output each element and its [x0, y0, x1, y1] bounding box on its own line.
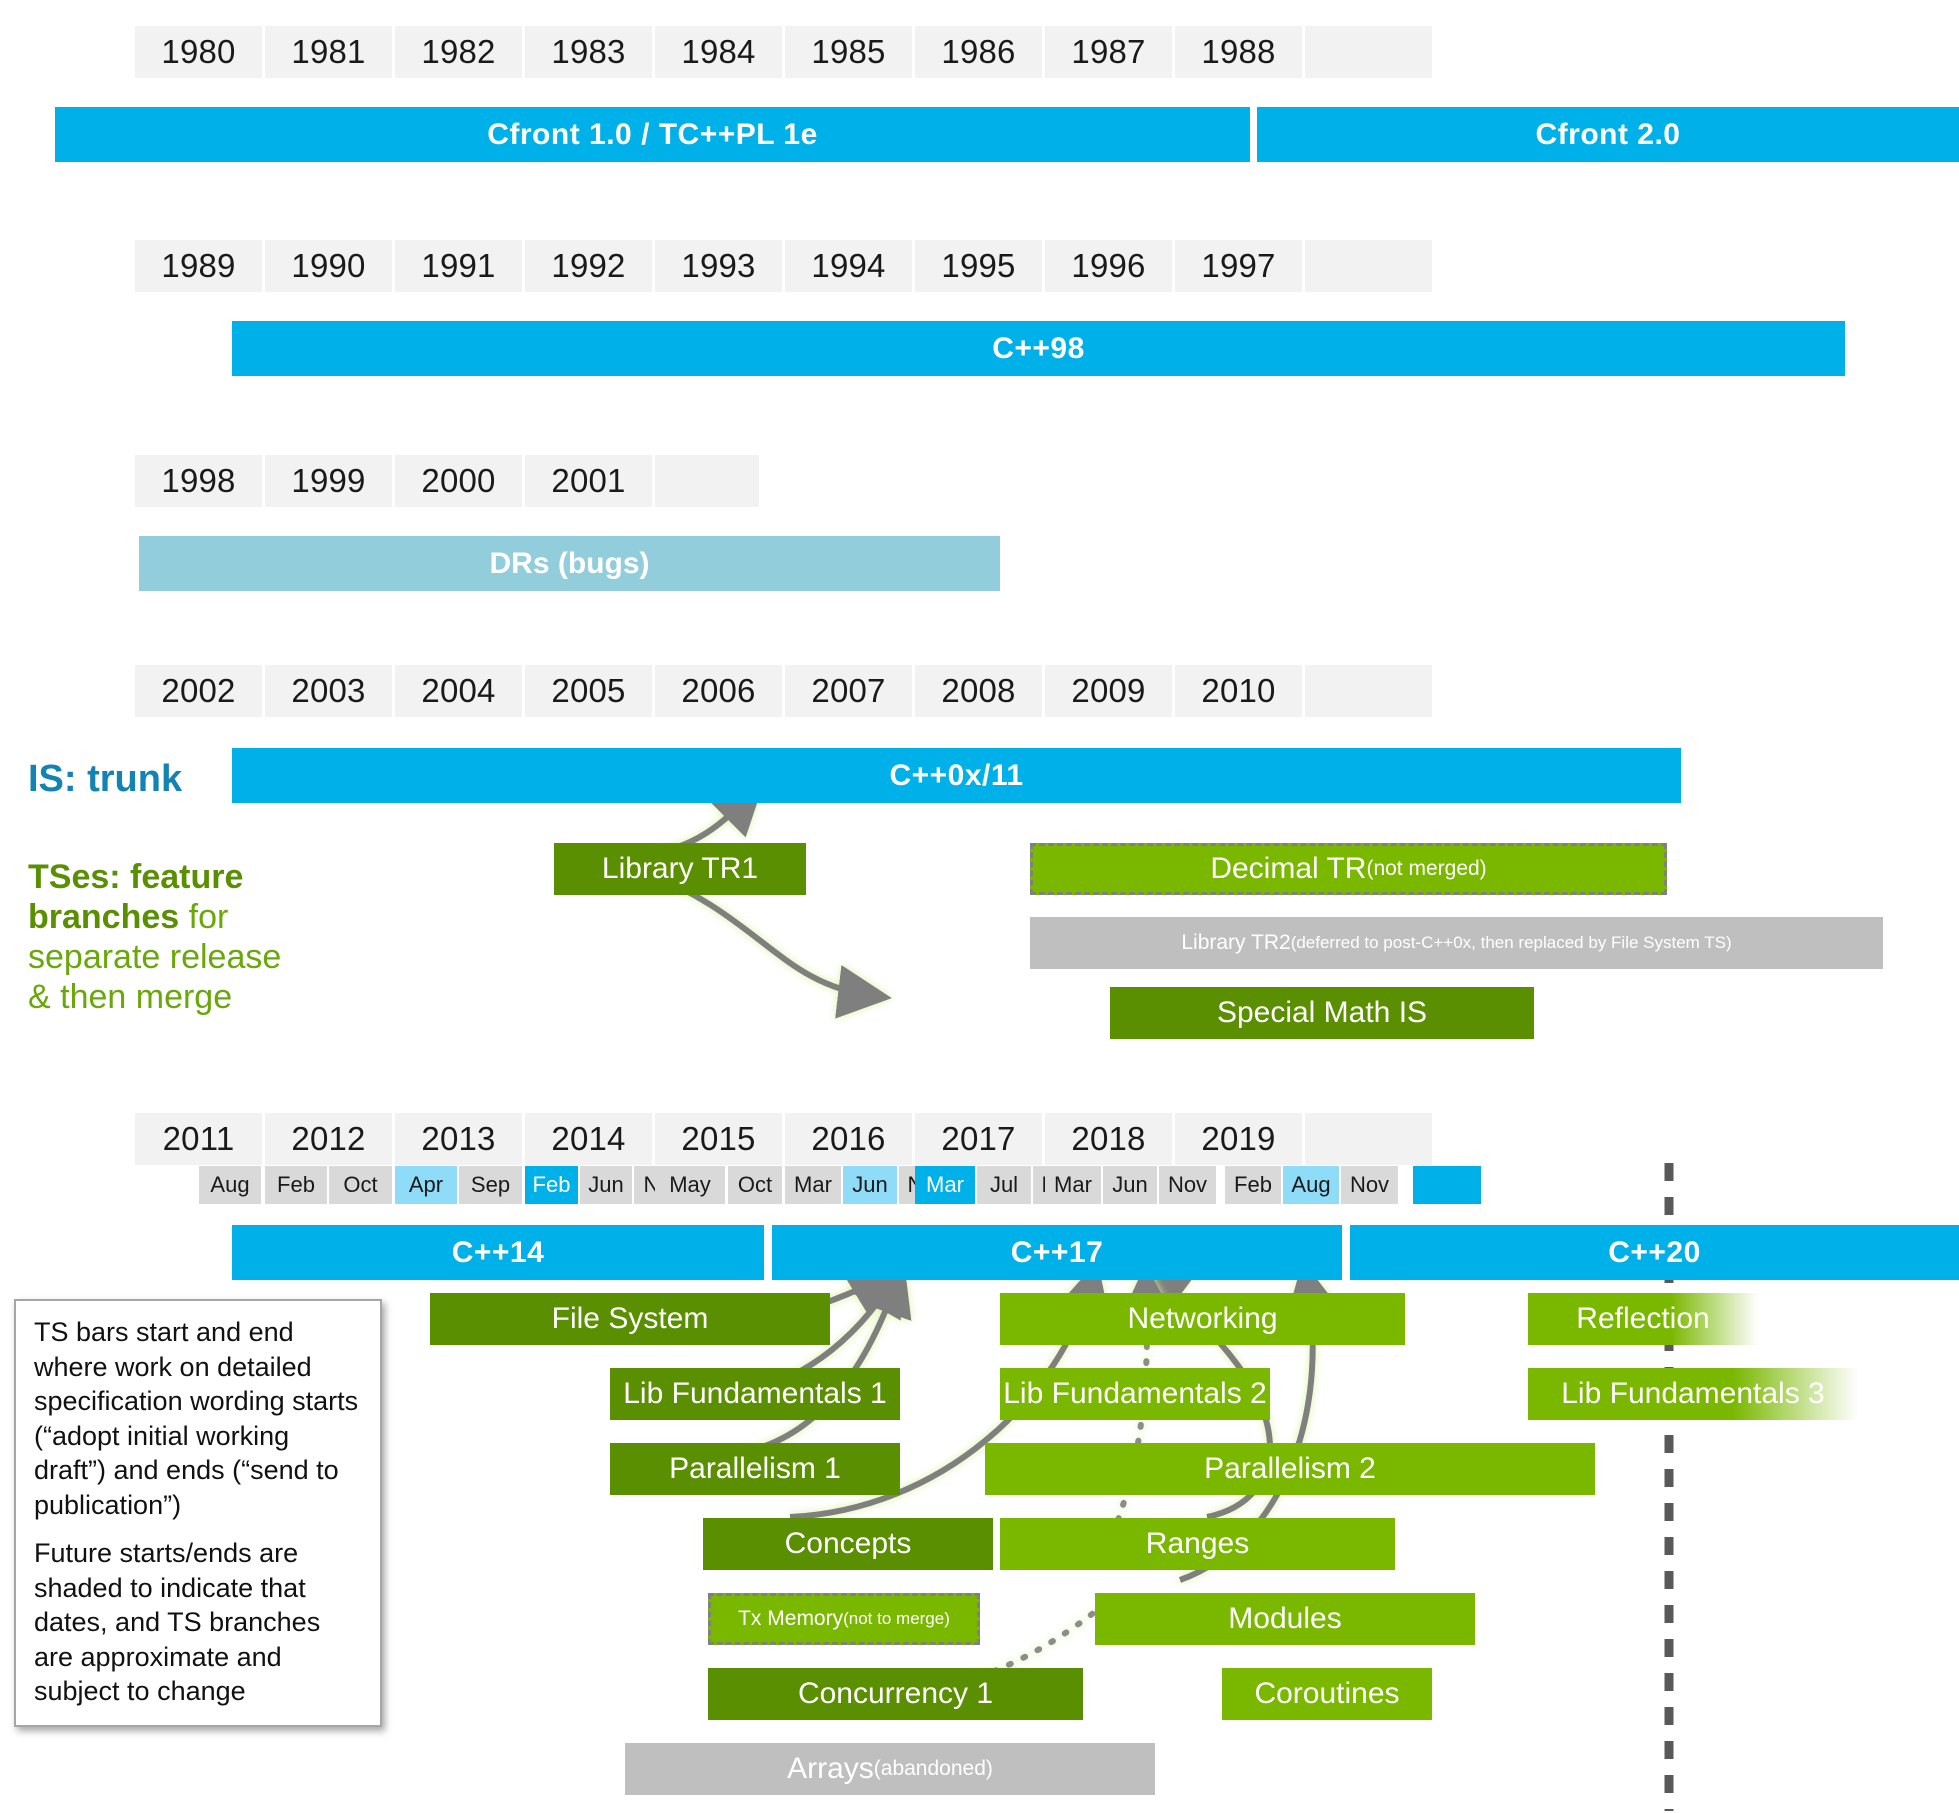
bar-tx-memory-label: Tx Memory — [738, 1607, 843, 1631]
row-1980s: 1980 1981 1982 1983 1984 1985 1986 1987 … — [0, 26, 1959, 166]
year-cell: 1991 — [395, 240, 522, 292]
year-cell: 2014 — [525, 1113, 652, 1165]
bar-modules[interactable]: Modules — [1095, 1593, 1475, 1645]
year-cell: 2012 — [265, 1113, 392, 1165]
year-cell: 1995 — [915, 240, 1042, 292]
year-cell: 2009 — [1045, 665, 1172, 717]
year-header-1980s: 1980 1981 1982 1983 1984 1985 1986 1987 … — [135, 26, 1959, 78]
month-cell-jun-2016[interactable]: Jun — [843, 1166, 897, 1204]
year-cell: 2011 — [135, 1113, 262, 1165]
row-1990s: 1989 1990 1991 1992 1993 1994 1995 1996 … — [0, 240, 1959, 380]
bar-lib-fundamentals-1[interactable]: Lib Fundamentals 1 — [610, 1368, 900, 1420]
bar-decimal-tr-note: (not merged) — [1366, 857, 1486, 881]
year-header-2010s: 2011 2012 2013 2014 2015 2016 2017 2018 … — [135, 1113, 1959, 1165]
bar-tx-memory-note: (not to merge) — [843, 1609, 950, 1629]
year-cell-empty — [1305, 665, 1432, 717]
year-header-1990s: 1989 1990 1991 1992 1993 1994 1995 1996 … — [135, 240, 1959, 292]
bar-arrays[interactable]: Arrays (abandoned) — [625, 1743, 1155, 1795]
bar-library-tr2-label: Library TR2 — [1181, 931, 1290, 955]
bar-arrays-label: Arrays — [787, 1752, 874, 1786]
year-cell: 1988 — [1175, 26, 1302, 78]
year-cell: 1990 — [265, 240, 392, 292]
year-cell: 1982 — [395, 26, 522, 78]
year-cell: 2006 — [655, 665, 782, 717]
year-cell: 2017 — [915, 1113, 1042, 1165]
year-cell: 1999 — [265, 455, 392, 507]
year-cell: 2013 — [395, 1113, 522, 1165]
bar-decimal-tr-label: Decimal TR — [1210, 852, 1366, 886]
bar-parallelism-1[interactable]: Parallelism 1 — [610, 1443, 900, 1495]
month-cell-feb-2019[interactable]: Feb — [1225, 1166, 1281, 1204]
year-cell: 2003 — [265, 665, 392, 717]
year-cell-empty — [1305, 26, 1432, 78]
bar-concepts[interactable]: Concepts — [703, 1518, 993, 1570]
month-cell-aug-2019[interactable]: Aug — [1283, 1166, 1339, 1204]
month-cell-feb-2012[interactable]: Feb — [265, 1166, 327, 1204]
tses-line1: TSes: feature — [28, 858, 243, 896]
bar-cpp98[interactable]: C++98 — [232, 321, 1845, 376]
tses-line2-rest: for — [179, 898, 228, 936]
month-cell-may-2015[interactable]: May — [655, 1166, 725, 1204]
month-cell-mar-2016[interactable]: Mar — [785, 1166, 841, 1204]
year-cell: 1993 — [655, 240, 782, 292]
callout-paragraph-2: Future starts/ends are shaded to indicat… — [34, 1536, 362, 1709]
bar-parallelism-2[interactable]: Parallelism 2 — [985, 1443, 1595, 1495]
year-cell: 1987 — [1045, 26, 1172, 78]
bar-library-tr1[interactable]: Library TR1 — [554, 843, 806, 895]
year-cell: 2002 — [135, 665, 262, 717]
year-cell: 1980 — [135, 26, 262, 78]
bar-drs-bugs[interactable]: DRs (bugs) — [139, 536, 1000, 591]
year-cell: 2005 — [525, 665, 652, 717]
month-cell-sep-2013[interactable]: Sep — [459, 1166, 522, 1204]
bar-concurrency-1[interactable]: Concurrency 1 — [708, 1668, 1083, 1720]
bar-file-system[interactable]: File System — [430, 1293, 830, 1345]
callout-box: TS bars start and end where work on deta… — [14, 1299, 382, 1727]
year-cell-empty — [655, 455, 759, 507]
tses-line4: & then merge — [28, 977, 328, 1017]
year-cell-empty — [1305, 240, 1432, 292]
month-cell-future[interactable] — [1413, 1166, 1481, 1204]
month-cell-nov-2018[interactable]: Nov — [1159, 1166, 1216, 1204]
bar-library-tr2-note: (deferred to post-C++0x, then replaced b… — [1291, 933, 1732, 953]
bar-cpp14[interactable]: C++14 — [232, 1225, 764, 1280]
year-cell: 1998 — [135, 455, 262, 507]
row-1998: 1998 1999 2000 2001 DRs (bugs) — [0, 455, 1959, 595]
year-header-1998: 1998 1999 2000 2001 — [135, 455, 1959, 507]
label-is-trunk: IS: trunk — [28, 758, 182, 801]
month-cell-jul-2017[interactable]: Jul — [977, 1166, 1031, 1204]
month-cell-mar-2018[interactable]: Mar — [1045, 1166, 1101, 1204]
year-cell: 2007 — [785, 665, 912, 717]
year-cell: 1989 — [135, 240, 262, 292]
year-cell: 1996 — [1045, 240, 1172, 292]
month-cell-oct-2015[interactable]: Oct — [728, 1166, 782, 1204]
year-cell: 1997 — [1175, 240, 1302, 292]
month-cell-apr-2013[interactable]: Apr — [395, 1166, 457, 1204]
year-cell: 1984 — [655, 26, 782, 78]
year-cell: 2019 — [1175, 1113, 1302, 1165]
row-2000s: 2002 2003 2004 2005 2006 2007 2008 2009 … — [0, 665, 1959, 1105]
year-cell: 2004 — [395, 665, 522, 717]
month-cell-mar-2017[interactable]: Mar — [915, 1166, 975, 1204]
month-cell-jun-2018[interactable]: Jun — [1103, 1166, 1157, 1204]
year-cell: 2008 — [915, 665, 1042, 717]
label-tses-block: TSes: feature branches for separate rele… — [28, 857, 328, 1017]
year-cell: 1986 — [915, 26, 1042, 78]
bar-cfront-2[interactable]: Cfront 2.0 — [1257, 107, 1959, 162]
year-cell: 1992 — [525, 240, 652, 292]
bar-lib-fundamentals-3[interactable]: Lib Fundamentals 3 — [1528, 1368, 1858, 1420]
year-cell: 2001 — [525, 455, 652, 507]
bar-arrays-note: (abandoned) — [874, 1757, 993, 1781]
bar-cfront-1[interactable]: Cfront 1.0 / TC++PL 1e — [55, 107, 1250, 162]
tses-line2-bold: branches — [28, 898, 179, 936]
year-cell: 1983 — [525, 26, 652, 78]
year-cell: 1985 — [785, 26, 912, 78]
year-header-2000s: 2002 2003 2004 2005 2006 2007 2008 2009 … — [135, 665, 1959, 717]
bar-cpp20[interactable]: C++20 — [1350, 1225, 1959, 1280]
month-cell-nov-2019[interactable]: Nov — [1341, 1166, 1398, 1204]
bar-reflection[interactable]: Reflection — [1528, 1293, 1758, 1345]
year-cell: 2015 — [655, 1113, 782, 1165]
bar-lib-fundamentals-2[interactable]: Lib Fundamentals 2 — [1000, 1368, 1270, 1420]
bar-decimal-tr[interactable]: Decimal TR (not merged) — [1030, 843, 1667, 895]
bar-tx-memory[interactable]: Tx Memory (not to merge) — [708, 1593, 980, 1645]
bar-ranges[interactable]: Ranges — [1000, 1518, 1395, 1570]
bar-cpp0x-11[interactable]: C++0x/11 — [232, 748, 1681, 803]
year-cell: 1994 — [785, 240, 912, 292]
month-cell-feb-2014[interactable]: Feb — [525, 1166, 578, 1204]
bar-cpp17[interactable]: C++17 — [772, 1225, 1342, 1280]
year-cell: 2000 — [395, 455, 522, 507]
bar-networking[interactable]: Networking — [1000, 1293, 1405, 1345]
month-cell-jun-2014[interactable]: Jun — [580, 1166, 632, 1204]
bar-coroutines[interactable]: Coroutines — [1222, 1668, 1432, 1720]
month-header-2010s: Aug Feb Oct Apr Sep Feb Jun Nov May Oct … — [135, 1166, 1959, 1206]
tses-line3: separate release — [28, 937, 328, 977]
month-cell-aug-2011[interactable]: Aug — [199, 1166, 261, 1204]
year-cell: 2010 — [1175, 665, 1302, 717]
callout-paragraph-1: TS bars start and end where work on deta… — [34, 1315, 362, 1522]
bar-special-math-is[interactable]: Special Math IS — [1110, 987, 1534, 1039]
year-cell-empty — [1305, 1113, 1432, 1165]
month-cell-oct-2012[interactable]: Oct — [329, 1166, 392, 1204]
bar-library-tr2[interactable]: Library TR2 (deferred to post-C++0x, the… — [1030, 917, 1883, 969]
year-cell: 1981 — [265, 26, 392, 78]
year-cell: 2018 — [1045, 1113, 1172, 1165]
year-cell: 2016 — [785, 1113, 912, 1165]
